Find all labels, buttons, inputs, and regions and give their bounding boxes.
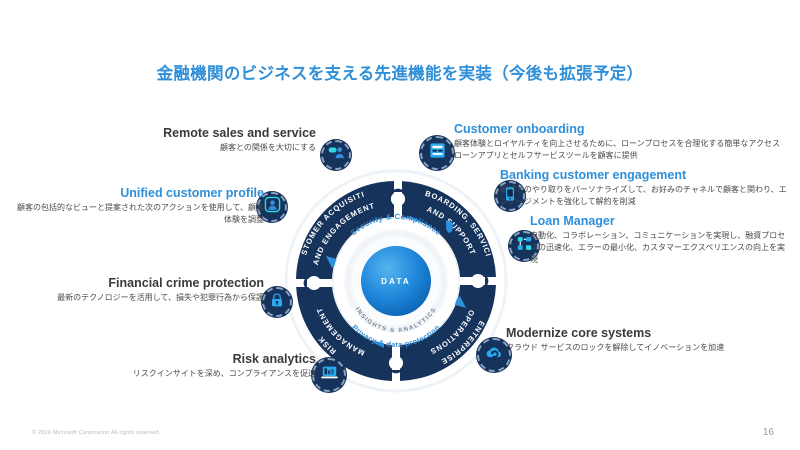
badge-financial-crime[interactable] xyxy=(261,286,293,318)
callout-sub-customer-onboarding: 顧客体験とロイヤルティを向上させるために、ローンプロセスを合理化する簡単なアクセ… xyxy=(454,138,784,161)
callout-sub-unified-profile: 顧客の包括的なビューと提案された次のアクションを使用して、顧客体験を調整 xyxy=(14,202,264,225)
callout-banking-engagement: Banking customer engagement 顧客とのやり取りをパーソ… xyxy=(500,168,792,208)
callout-heading-risk-analytics: Risk analytics xyxy=(80,352,316,366)
callout-remote-sales: Remote sales and service 顧客との関係を大切にする xyxy=(30,126,316,154)
callout-sub-modernize-core: クラウド サービスのロックを解除してイノベーションを加速 xyxy=(506,342,796,354)
user-profile-icon xyxy=(264,196,281,218)
callout-heading-loan-manager: Loan Manager xyxy=(530,214,792,228)
callout-heading-financial-crime: Financial crime protection xyxy=(14,276,264,290)
callout-heading-modernize-core: Modernize core systems xyxy=(506,326,796,340)
data-core-label: DATA xyxy=(381,277,411,286)
callout-sub-loan-manager: 自動化、コラボレーション、コミュニケーションを実現し、融資プロセスの迅速化、エラ… xyxy=(530,230,792,265)
callout-sub-risk-analytics: リスクインサイトを深め、コンプライアンスを促進 xyxy=(80,368,316,380)
page-title: 金融機関のビジネスを支える先進機能を実装（今後も拡張予定） xyxy=(0,60,800,84)
callout-heading-unified-profile: Unified customer profile xyxy=(14,186,264,200)
badge-remote-sales[interactable] xyxy=(320,139,352,171)
page-number: 16 xyxy=(763,427,774,438)
callout-unified-profile: Unified customer profile 顧客の包括的なビューと提案され… xyxy=(14,186,264,226)
callout-sub-financial-crime: 最新のテクノロジーを活用して、損失や犯罪行為から保護 xyxy=(14,292,264,304)
badge-risk-analytics[interactable] xyxy=(311,357,347,393)
callout-customer-onboarding: Customer onboarding 顧客体験とロイヤルティを向上させるために… xyxy=(454,122,784,162)
laptop-chart-icon xyxy=(320,363,339,387)
callout-modernize-core: Modernize core systems クラウド サービスのロックを解除し… xyxy=(506,326,796,354)
lock-icon xyxy=(269,292,285,313)
form-document-icon xyxy=(428,141,447,165)
callout-loan-manager: Loan Manager 自動化、コラボレーション、コミュニケーションを実現し、… xyxy=(530,214,792,265)
callout-heading-customer-onboarding: Customer onboarding xyxy=(454,122,784,136)
callout-financial-crime: Financial crime protection 最新のテクノロジーを活用し… xyxy=(14,276,264,304)
badge-customer-onboarding[interactable] xyxy=(419,135,455,171)
slide-canvas: 金融機関のビジネスを支える先進機能を実装（今後も拡張予定） xyxy=(0,0,800,450)
callout-risk-analytics: Risk analytics リスクインサイトを深め、コンプライアンスを促進 xyxy=(80,352,316,380)
footer-copyright: © 2020 Microsoft Corporation All rights … xyxy=(32,430,161,436)
callout-heading-banking-engagement: Banking customer engagement xyxy=(500,168,792,182)
callout-sub-banking-engagement: 顧客とのやり取りをパーソナライズして、お好みのチャネルで顧客と関わり、エンゲージ… xyxy=(500,184,792,207)
user-chat-icon xyxy=(328,144,345,166)
cloud-refresh-icon xyxy=(484,343,504,368)
callout-heading-remote-sales: Remote sales and service xyxy=(30,126,316,140)
callout-sub-remote-sales: 顧客との関係を大切にする xyxy=(30,142,316,154)
